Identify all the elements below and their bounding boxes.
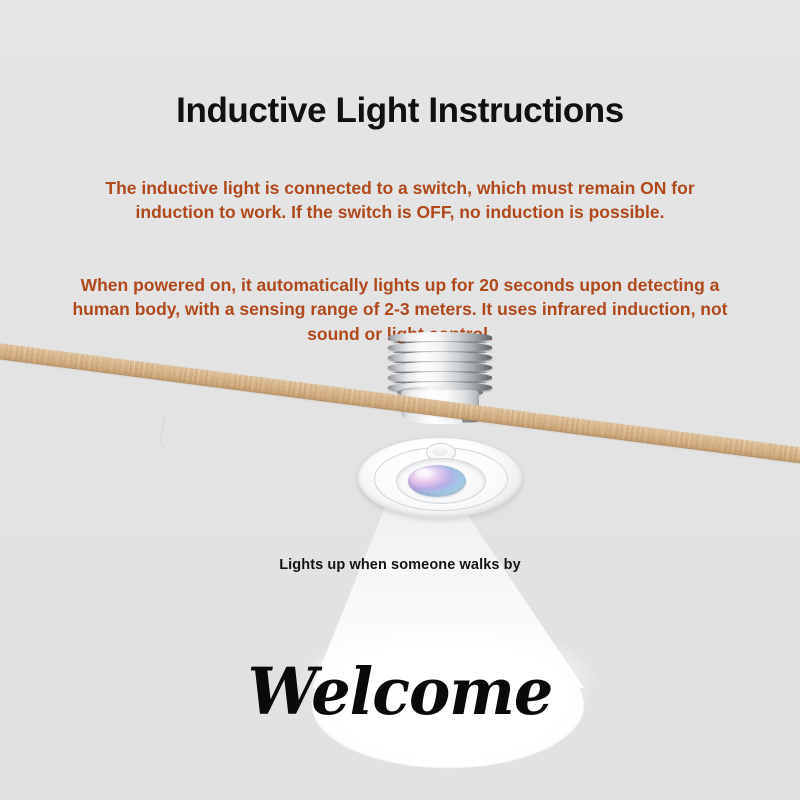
page-title: Inductive Light Instructions xyxy=(0,91,800,131)
illustration-caption: Lights up when someone walks by xyxy=(0,557,800,573)
instruction-poster: Inductive Light Instructions The inducti… xyxy=(0,0,800,800)
instruction-paragraph-1: The inductive light is connected to a sw… xyxy=(0,176,800,226)
mounting-clip-icon xyxy=(460,406,484,424)
sensor-housing xyxy=(358,438,522,522)
lens-highlight xyxy=(415,468,437,478)
hanging-thread-icon xyxy=(156,414,172,450)
indicator-button-inner xyxy=(432,447,448,456)
light-fixture xyxy=(388,332,492,420)
welcome-floor-text: Welcome xyxy=(0,654,800,730)
